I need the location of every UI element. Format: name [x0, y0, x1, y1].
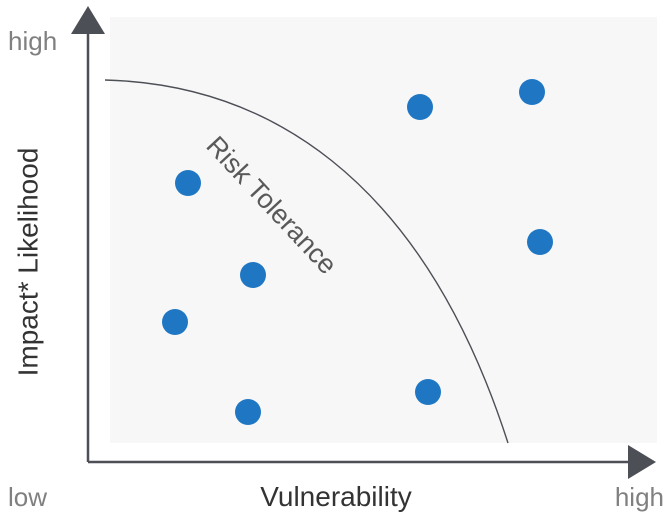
y-axis-title-text: Impact* Likelihood [12, 147, 44, 376]
y-axis-arrow-icon [71, 6, 105, 34]
y-axis-high-label: high [8, 26, 57, 57]
plot-area [110, 17, 657, 443]
data-point[interactable] [162, 309, 188, 335]
data-point[interactable] [407, 94, 433, 120]
x-axis-title: Vulnerability [0, 481, 672, 513]
data-point[interactable] [240, 262, 266, 288]
x-axis-arrow-icon [628, 445, 656, 479]
x-axis-high-label: high [615, 482, 664, 513]
data-point[interactable] [527, 229, 553, 255]
data-point[interactable] [415, 379, 441, 405]
data-point[interactable] [519, 79, 545, 105]
data-point[interactable] [235, 399, 261, 425]
risk-tolerance-scatter-chart: Risk Tolerance high Impact* Likelihood l… [0, 0, 672, 523]
y-axis-title: Impact* Likelihood [0, 0, 56, 523]
